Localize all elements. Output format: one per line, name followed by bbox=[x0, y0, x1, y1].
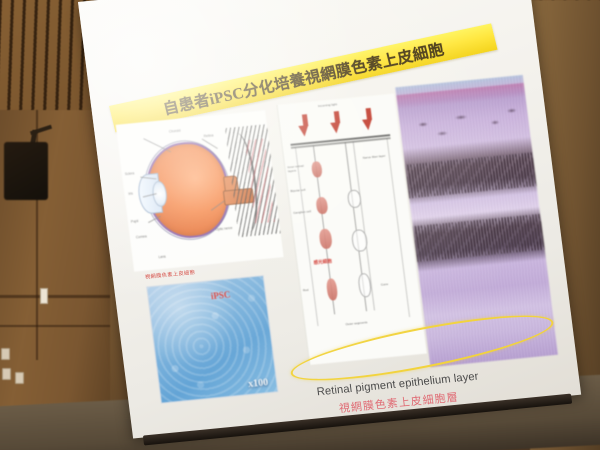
retina-label-cone: Cone bbox=[381, 281, 405, 287]
power-outlet[interactable] bbox=[2, 368, 11, 380]
power-outlet[interactable] bbox=[15, 372, 24, 384]
wall-seam bbox=[0, 325, 110, 327]
retina-label-inner-layers: Inner retinal layers bbox=[287, 164, 310, 174]
eye-anatomy-panel: Choroid Retina Sclera Iris Pupil Cornea … bbox=[116, 110, 284, 271]
retina-red-label-photoreceptor: 感光細胞 bbox=[313, 258, 332, 266]
rpe-culture-micrograph: iPSC x100 bbox=[146, 275, 278, 404]
eye-label-sclera: Sclera bbox=[125, 171, 135, 176]
magnification-label: x100 bbox=[248, 377, 269, 390]
screen-surface: 自患者iPSC分化培養視網膜色素上皮細胞 Choroid bbox=[78, 0, 581, 439]
power-outlet[interactable] bbox=[1, 348, 10, 360]
projection-screen: 自患者iPSC分化培養視網膜色素上皮細胞 Choroid bbox=[78, 0, 581, 439]
bipolar-cell-body bbox=[315, 197, 328, 215]
retina-label-outer-segments: Outer segments bbox=[345, 320, 379, 327]
photoreceptor-cell-body bbox=[318, 228, 332, 249]
wall-seam bbox=[0, 295, 110, 298]
eye-label-optic-nerve: Optic nerve bbox=[215, 226, 232, 232]
eye-label-choroid: Choroid bbox=[169, 129, 181, 134]
retina-label-incoming-light: Incoming light bbox=[318, 103, 337, 109]
slide-panels: Choroid Retina Sclera Iris Pupil Cornea … bbox=[109, 80, 562, 394]
retina-label-nerve-fiber-layer: Nerve fiber layer bbox=[363, 154, 391, 161]
down-arrow-icon bbox=[330, 122, 341, 134]
eye-label-lens: Lens bbox=[158, 255, 166, 260]
light-switch-plate[interactable] bbox=[40, 288, 48, 304]
amacrine-cell-body bbox=[351, 229, 369, 252]
culture-photo-caption: 視網膜色素上皮細胞 bbox=[145, 269, 196, 281]
eye-label-iris: Iris bbox=[128, 192, 133, 196]
eye-label-retina: Retina bbox=[204, 133, 214, 138]
down-arrow-icon bbox=[362, 119, 373, 131]
eye-label-pupil: Pupil bbox=[131, 219, 139, 224]
down-arrow-icon bbox=[298, 125, 309, 137]
culture-inner-label: iPSC bbox=[210, 289, 231, 301]
ganglion-cell-body bbox=[311, 161, 323, 178]
photoreceptor-outer-segment bbox=[326, 278, 339, 301]
lecture-hall-photo: 自患者iPSC分化培養視網膜色素上皮細胞 Choroid bbox=[0, 0, 600, 450]
eye-label-cornea: Cornea bbox=[136, 234, 147, 239]
wall-mounted-speaker bbox=[4, 142, 48, 200]
slide-content: 自患者iPSC分化培養視網膜色素上皮細胞 Choroid bbox=[78, 0, 581, 439]
